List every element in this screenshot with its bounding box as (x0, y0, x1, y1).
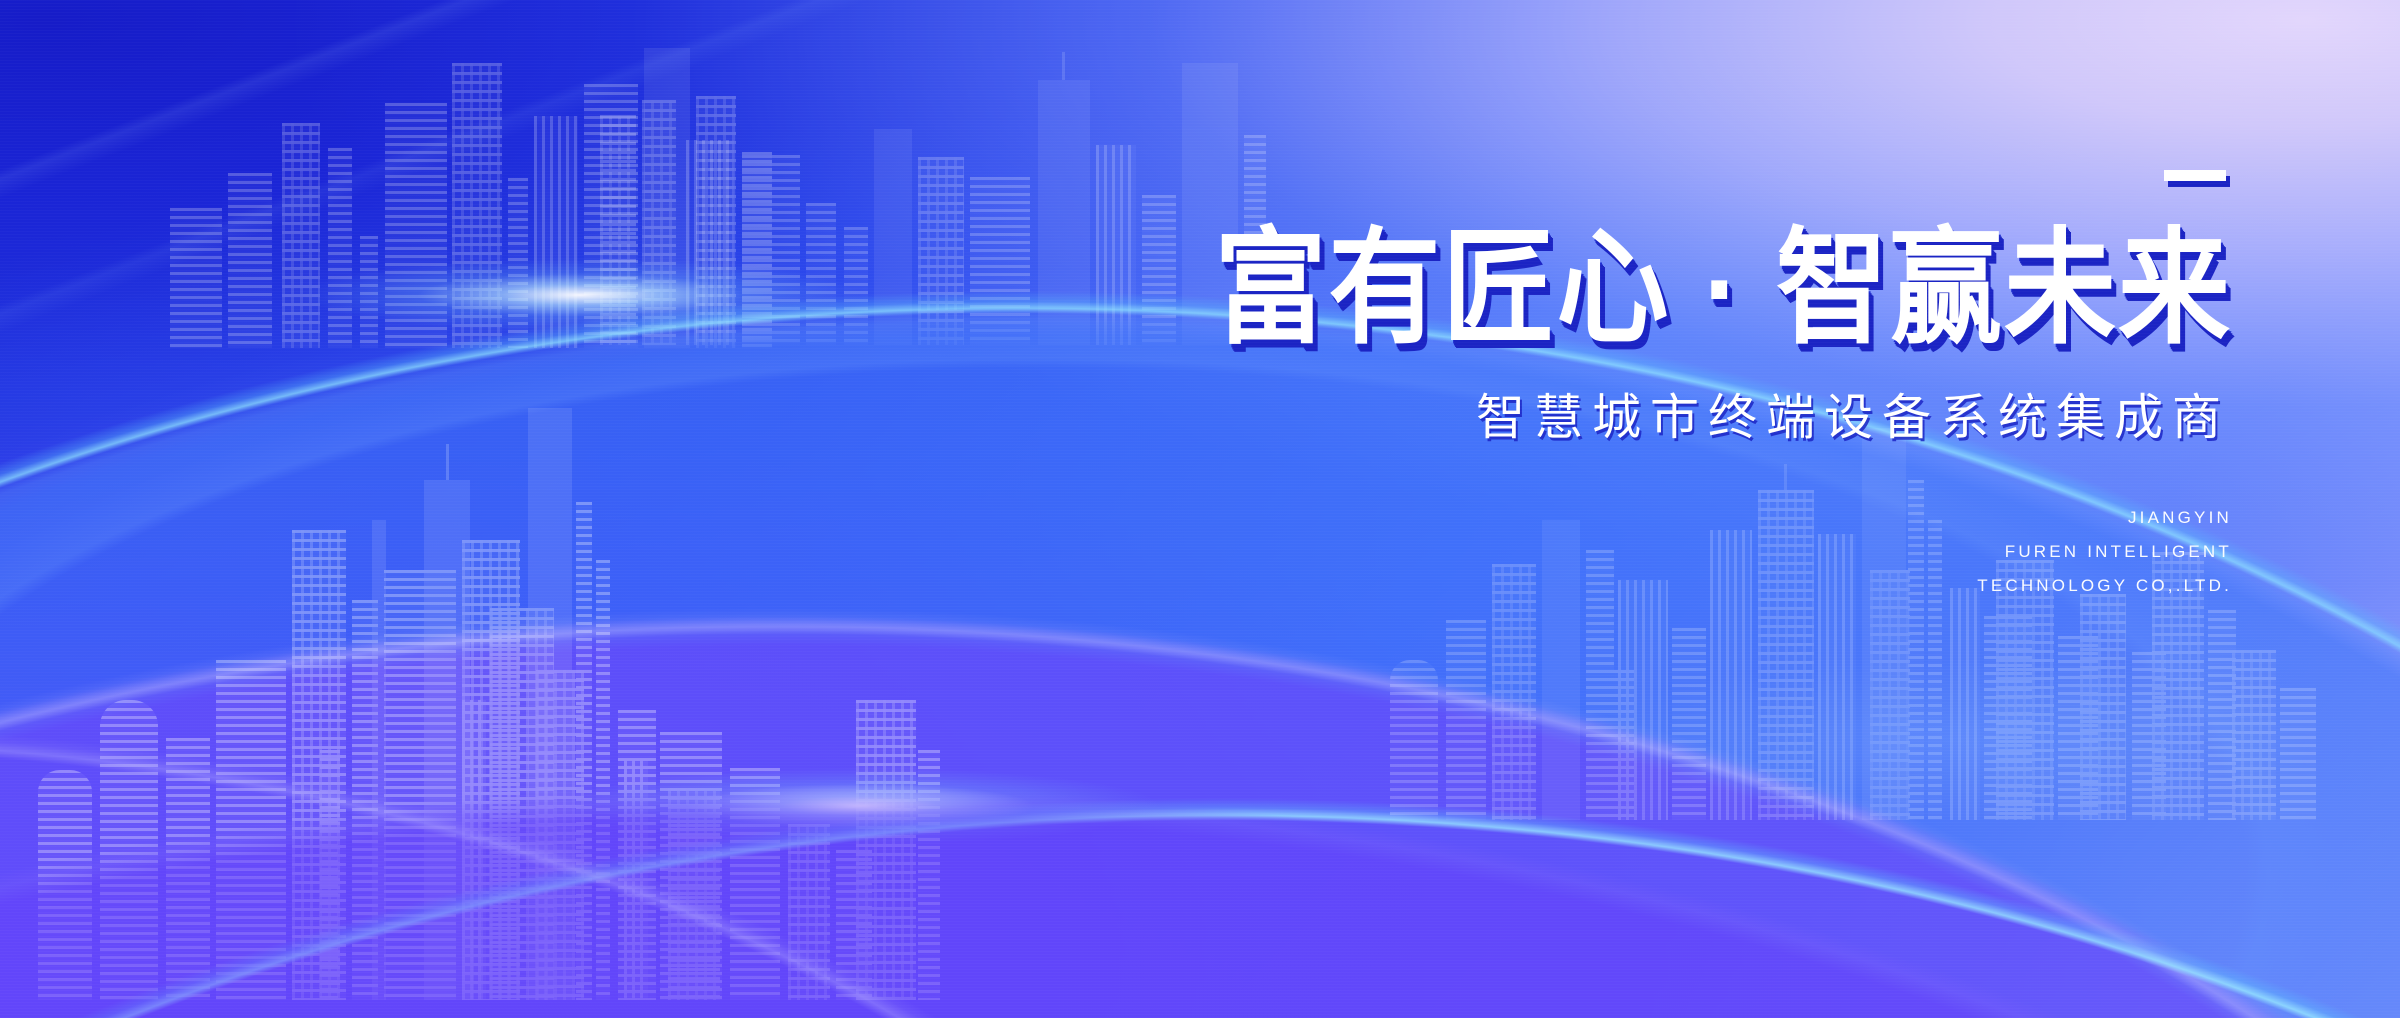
banner-canvas: 富有匠心 · 智赢未来 智慧城市终端设备系统集成商 JIANGYIN FUREN… (0, 0, 2400, 1018)
subtitle-tagline: 智慧城市终端设备系统集成商 (1214, 378, 2232, 449)
company-line-3: TECHNOLOGY CO,.LTD. (1214, 569, 2232, 603)
banner-text-block: 富有匠心 · 智赢未来 智慧城市终端设备系统集成商 JIANGYIN FUREN… (1214, 170, 2232, 603)
company-line-1: JIANGYIN (1214, 501, 2232, 535)
company-name-block: JIANGYIN FUREN INTELLIGENT TECHNOLOGY CO… (1214, 501, 2232, 603)
company-line-2: FUREN INTELLIGENT (1214, 535, 2232, 569)
accent-dash-icon (2164, 170, 2226, 181)
headline-title: 富有匠心 · 智赢未来 (1214, 223, 2232, 355)
